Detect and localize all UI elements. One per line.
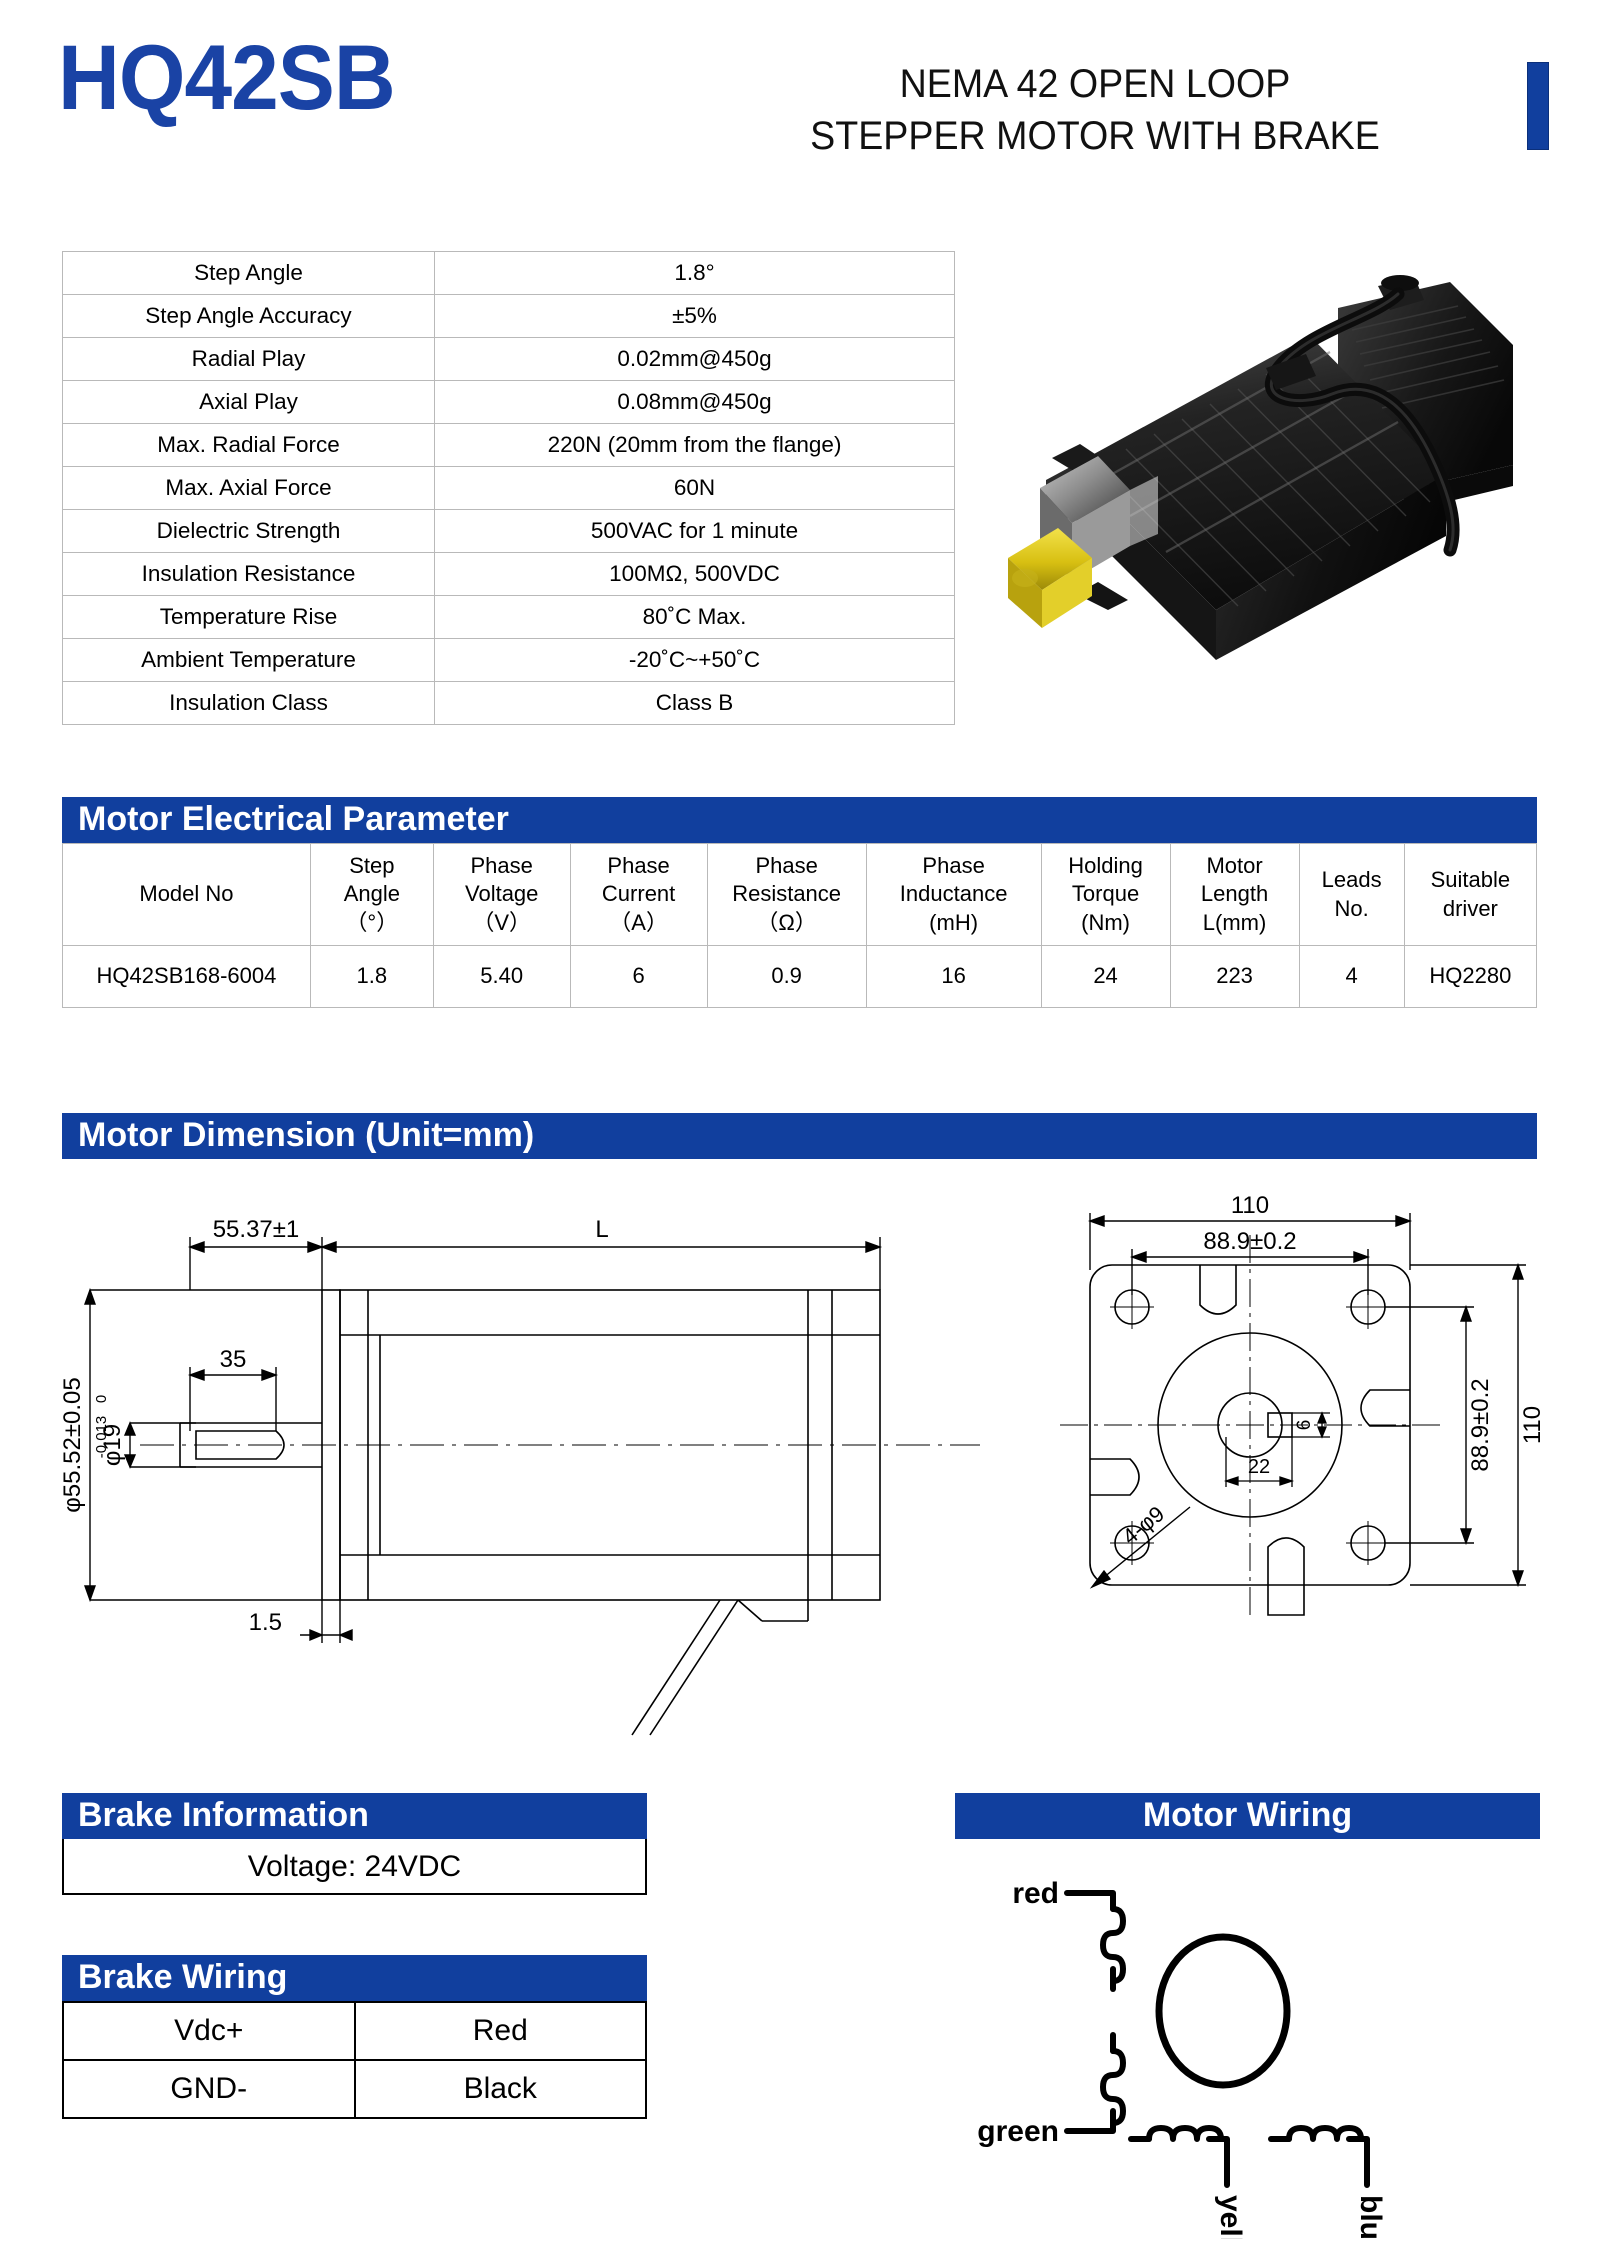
- electrical-cell: 16: [866, 946, 1041, 1008]
- spec-key: Max. Axial Force: [63, 467, 435, 510]
- spec-value: -20˚C~+50˚C: [435, 639, 955, 682]
- motor-photo-svg: [980, 190, 1570, 690]
- electrical-col-header-line: driver: [1407, 895, 1534, 923]
- spec-value: 0.08mm@450g: [435, 381, 955, 424]
- spec-row: Max. Axial Force60N: [63, 467, 955, 510]
- brake-wire-color: Red: [355, 2002, 647, 2060]
- brake-wiring-title: Brake Wiring: [62, 1955, 647, 2001]
- electrical-table-body: HQ42SB168-60041.85.4060.916242234HQ2280: [63, 946, 1537, 1008]
- wiring-label-yellow: yellow: [1214, 2195, 1247, 2239]
- electrical-col-header: LeadsNo.: [1299, 844, 1404, 946]
- dim-front-length-label: 55.37±1: [213, 1216, 300, 1243]
- electrical-col-header: PhaseVoltage（V）: [433, 844, 570, 946]
- spec-value: 0.02mm@450g: [435, 338, 955, 381]
- dim-shaft-flat: [190, 1367, 276, 1431]
- motor-wiring-svg: red green yellow blue: [955, 1839, 1540, 2239]
- electrical-col-header: PhaseInductance(mH): [866, 844, 1041, 946]
- spec-value: 100MΩ, 500VDC: [435, 553, 955, 596]
- electrical-col-header-line: (Nm): [1044, 909, 1168, 937]
- motor-dimension-title: Motor Dimension (Unit=mm): [62, 1113, 1537, 1159]
- page-header: HQ42SB NEMA 42 OPEN LOOP STEPPER MOTOR W…: [0, 0, 1600, 185]
- spec-value: 500VAC for 1 minute: [435, 510, 955, 553]
- dim-flange-thickness-label: 1.5: [249, 1609, 282, 1636]
- subtitle-line-2: STEPPER MOTOR WITH BRAKE: [724, 110, 1467, 162]
- electrical-col-header-line: Holding: [1044, 852, 1168, 880]
- electrical-col-header: StepAngle（°）: [310, 844, 433, 946]
- electrical-col-header-line: Model No: [65, 880, 308, 908]
- spec-value: Class B: [435, 682, 955, 725]
- electrical-cell: 5.40: [433, 946, 570, 1008]
- wiring-label-green: green: [977, 2115, 1059, 2148]
- spec-key: Ambient Temperature: [63, 639, 435, 682]
- electrical-col-header-line: Length: [1173, 880, 1297, 908]
- electrical-col-header-line: （A）: [573, 909, 705, 937]
- electrical-parameter-title: Motor Electrical Parameter: [62, 797, 1537, 843]
- electrical-cell: 223: [1170, 946, 1299, 1008]
- spec-key: Radial Play: [63, 338, 435, 381]
- brake-wiring-row: Vdc+Red: [63, 2002, 646, 2060]
- electrical-col-header: PhaseCurrent（A）: [570, 844, 707, 946]
- motor-front-view-drawing: 110 88.9±0.2 110 88.9±0.2: [1040, 1175, 1600, 1740]
- electrical-col-header-line: Phase: [573, 852, 705, 880]
- electrical-col-header: Suitabledriver: [1404, 844, 1536, 946]
- spec-value: 60N: [435, 467, 955, 510]
- electrical-col-header-line: Phase: [869, 852, 1039, 880]
- spec-key: Axial Play: [63, 381, 435, 424]
- electrical-cell: 24: [1041, 946, 1170, 1008]
- motor-wiring-diagram: red green yellow blue: [955, 1839, 1540, 2239]
- wiring-label-red: red: [1012, 1877, 1059, 1910]
- electrical-col-header-line: L(mm): [1173, 909, 1297, 937]
- spec-row: Radial Play0.02mm@450g: [63, 338, 955, 381]
- brake-wiring-section: Brake Wiring Vdc+RedGND-Black: [62, 1955, 647, 2119]
- dim-key-width-label: 6: [1294, 1420, 1315, 1431]
- spec-key: Insulation Resistance: [63, 553, 435, 596]
- brake-terminal: GND-: [63, 2060, 355, 2118]
- electrical-col-header-line: Motor: [1173, 852, 1297, 880]
- spec-row: Axial Play0.08mm@450g: [63, 381, 955, 424]
- electrical-cell: 1.8: [310, 946, 433, 1008]
- electrical-col-header-line: Resistance: [710, 880, 864, 908]
- brake-voltage-value: Voltage: 24VDC: [62, 1839, 647, 1895]
- electrical-data-row: HQ42SB168-60041.85.4060.916242234HQ2280: [63, 946, 1537, 1008]
- header-accent-bar: [1527, 62, 1549, 150]
- dim-key-length-label: 22: [1248, 1456, 1270, 1478]
- electrical-col-header: HoldingTorque(Nm): [1041, 844, 1170, 946]
- spec-row: Step Angle Accuracy±5%: [63, 295, 955, 338]
- electrical-cell: HQ42SB168-6004: [63, 946, 311, 1008]
- electrical-parameter-table: Model NoStepAngle（°）PhaseVoltage（V）Phase…: [62, 843, 1537, 1008]
- electrical-cell: 0.9: [707, 946, 866, 1008]
- wiring-label-blue: blue: [1354, 2195, 1387, 2239]
- spec-row: Temperature Rise80˚C Max.: [63, 596, 955, 639]
- spec-key: Step Angle Accuracy: [63, 295, 435, 338]
- dim-flange-thickness: [300, 1600, 352, 1643]
- dim-front-length: [190, 1237, 322, 1290]
- spec-key: Insulation Class: [63, 682, 435, 725]
- motor-dimension-drawings: 55.37±1 L 35 1.5: [0, 1175, 1600, 1740]
- electrical-parameter-section: Motor Electrical Parameter Model NoStepA…: [62, 797, 1537, 1008]
- electrical-col-header-line: No.: [1302, 895, 1402, 923]
- electrical-col-header-line: (mH): [869, 909, 1039, 937]
- dim-bolt-circle-h-label: 88.9±0.2: [1203, 1228, 1296, 1255]
- electrical-col-header: MotorLengthL(mm): [1170, 844, 1299, 946]
- electrical-col-header-line: Leads: [1302, 866, 1402, 894]
- motor-dimension-section: Motor Dimension (Unit=mm): [62, 1113, 1537, 1159]
- dim-total-length: [322, 1237, 880, 1290]
- motor-wiring-section: Motor Wiring: [955, 1793, 1540, 2239]
- spec-key: Dielectric Strength: [63, 510, 435, 553]
- spec-key: Step Angle: [63, 252, 435, 295]
- electrical-cell: 6: [570, 946, 707, 1008]
- brake-information-section: Brake Information Voltage: 24VDC: [62, 1793, 647, 1895]
- brake-information-title: Brake Information: [62, 1793, 647, 1839]
- electrical-col-header-line: Angle: [313, 880, 431, 908]
- dim-shaft-flat-label: 35: [220, 1346, 247, 1373]
- electrical-col-header-line: Inductance: [869, 880, 1039, 908]
- electrical-col-header-line: Voltage: [436, 880, 568, 908]
- electrical-col-header: PhaseResistance（Ω）: [707, 844, 866, 946]
- brake-wiring-row: GND-Black: [63, 2060, 646, 2118]
- electrical-col-header-line: Suitable: [1407, 866, 1534, 894]
- electrical-col-header-line: Phase: [710, 852, 864, 880]
- brake-wiring-body: Vdc+RedGND-Black: [63, 2002, 646, 2118]
- spec-row: Ambient Temperature-20˚C~+50˚C: [63, 639, 955, 682]
- spec-value: 1.8°: [435, 252, 955, 295]
- electrical-header-row: Model NoStepAngle（°）PhaseVoltage（V）Phase…: [63, 844, 1537, 946]
- subtitle-line-1: NEMA 42 OPEN LOOP: [724, 58, 1467, 110]
- electrical-col-header-line: Torque: [1044, 880, 1168, 908]
- electrical-col-header-line: （Ω）: [710, 909, 864, 937]
- spec-value: 80˚C Max.: [435, 596, 955, 639]
- dim-total-length-label: L: [595, 1216, 608, 1243]
- dim-bolt-circle-v-label: 88.9±0.2: [1467, 1378, 1494, 1471]
- dim-front-height-label: 110: [1519, 1406, 1546, 1444]
- spec-row: Insulation Resistance100MΩ, 500VDC: [63, 553, 955, 596]
- spec-row: Max. Radial Force220N (20mm from the fla…: [63, 424, 955, 467]
- spec-row: Step Angle1.8°: [63, 252, 955, 295]
- electrical-cell: HQ2280: [1404, 946, 1536, 1008]
- spec-row: Insulation ClassClass B: [63, 682, 955, 725]
- dim-front-width-label: 110: [1231, 1192, 1269, 1219]
- motor-product-photo: [980, 190, 1570, 690]
- electrical-cell: 4: [1299, 946, 1404, 1008]
- motor-wiring-title: Motor Wiring: [955, 1793, 1540, 1839]
- electrical-col-header-line: （°）: [313, 909, 431, 937]
- spec-value: ±5%: [435, 295, 955, 338]
- dim-mounting-holes-label: 4-φ9: [1118, 1501, 1170, 1549]
- brake-wiring-table: Vdc+RedGND-Black: [62, 2001, 647, 2119]
- electrical-col-header-line: （V）: [436, 909, 568, 937]
- model-title: HQ42SB: [58, 26, 395, 131]
- electrical-col-header-line: Step: [313, 852, 431, 880]
- spec-row: Dielectric Strength500VAC for 1 minute: [63, 510, 955, 553]
- dim-pilot-diameter-label: φ55.52±0.05: [59, 1377, 86, 1513]
- spec-key: Max. Radial Force: [63, 424, 435, 467]
- electrical-col-header-line: Current: [573, 880, 705, 908]
- spec-value: 220N (20mm from the flange): [435, 424, 955, 467]
- brake-terminal: Vdc+: [63, 2002, 355, 2060]
- electrical-col-header-line: Phase: [436, 852, 568, 880]
- brake-wire-color: Black: [355, 2060, 647, 2118]
- spec-table-body: Step Angle1.8°Step Angle Accuracy±5%Radi…: [63, 252, 955, 725]
- electrical-table-head: Model NoStepAngle（°）PhaseVoltage（V）Phase…: [63, 844, 1537, 946]
- spec-key: Temperature Rise: [63, 596, 435, 639]
- motor-side-view-drawing: 55.37±1 L 35 1.5: [20, 1175, 1020, 1740]
- general-specification-table: Step Angle1.8°Step Angle Accuracy±5%Radi…: [62, 251, 955, 725]
- dim-shaft-tol-upper: 0: [93, 1395, 110, 1403]
- page-subtitle: NEMA 42 OPEN LOOP STEPPER MOTOR WITH BRA…: [724, 58, 1467, 162]
- electrical-col-header: Model No: [63, 844, 311, 946]
- dim-shaft-tol-lower: -0.013: [93, 1416, 110, 1459]
